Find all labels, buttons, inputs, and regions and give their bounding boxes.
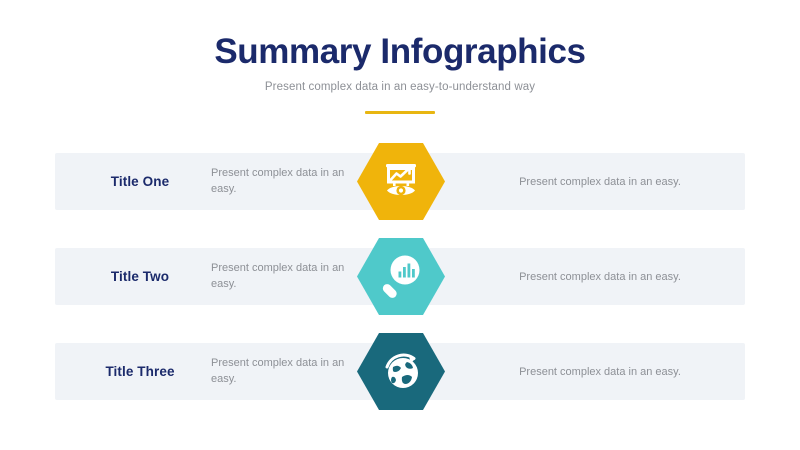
title-divider xyxy=(365,111,435,114)
row-hexagon-badge[interactable] xyxy=(357,238,445,315)
row-title: Title Three xyxy=(75,343,205,400)
row-title: Title Two xyxy=(75,248,205,305)
infographic-row[interactable]: Title One Present complex data in an eas… xyxy=(0,153,800,210)
row-hexagon-badge[interactable] xyxy=(357,333,445,410)
page-subtitle: Present complex data in an easy-to-under… xyxy=(0,72,800,93)
row-right-text: Present complex data in an easy. xyxy=(455,248,745,305)
row-description: Present complex data in an easy. xyxy=(211,153,351,210)
infographic-rows: Title One Present complex data in an eas… xyxy=(0,153,800,400)
row-description: Present complex data in an easy. xyxy=(211,343,351,400)
infographic-header: Summary Infographics Present complex dat… xyxy=(0,0,800,114)
row-right-text: Present complex data in an easy. xyxy=(455,343,745,400)
row-description: Present complex data in an easy. xyxy=(211,248,351,305)
infographic-row[interactable]: Title Two Present complex data in an eas… xyxy=(0,248,800,305)
page-title: Summary Infographics xyxy=(0,0,800,72)
row-hexagon-badge[interactable] xyxy=(357,143,445,220)
row-right-text: Present complex data in an easy. xyxy=(455,153,745,210)
infographic-row[interactable]: Title Three Present complex data in an e… xyxy=(0,343,800,400)
row-title: Title One xyxy=(75,153,205,210)
